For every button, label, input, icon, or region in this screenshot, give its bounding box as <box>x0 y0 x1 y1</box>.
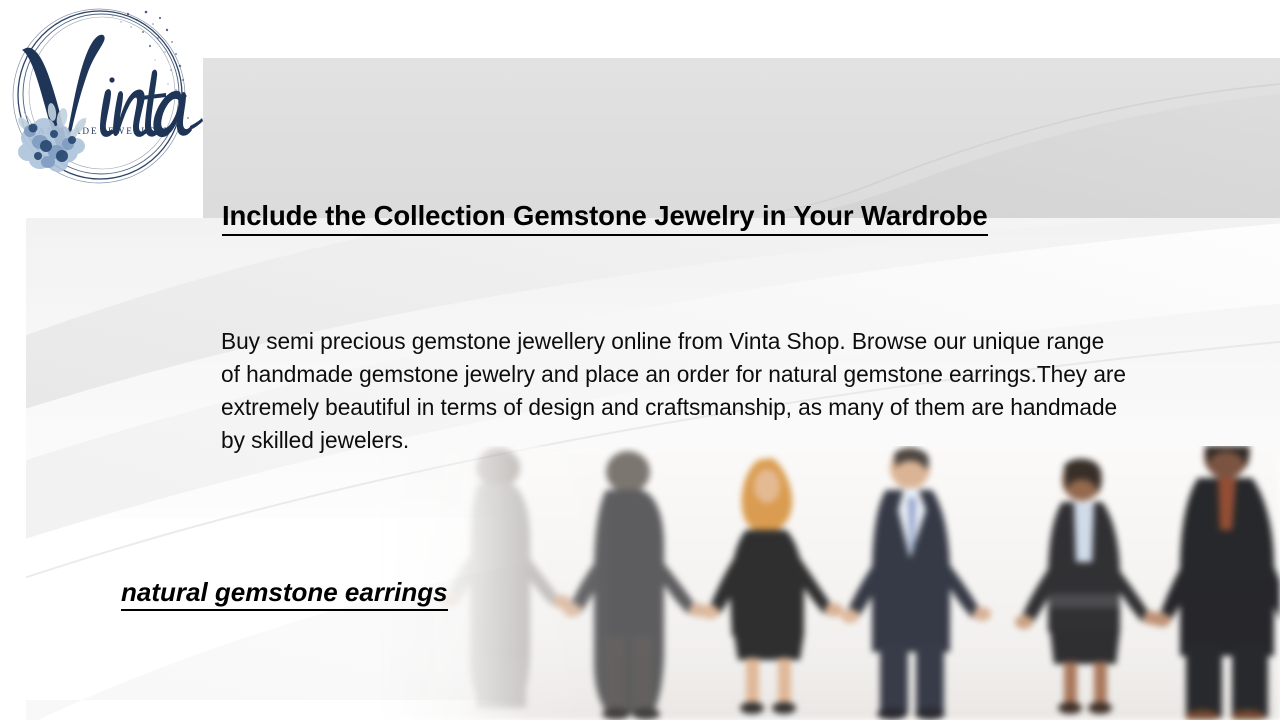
vinta-logo-icon: HANDMADE JEWELLERY <box>0 0 203 193</box>
natural-gemstone-earrings-link[interactable]: natural gemstone earrings <box>121 578 448 611</box>
background-left-gutter <box>0 218 26 720</box>
body-paragraph: Buy semi precious gemstone jewellery onl… <box>221 325 1126 457</box>
page-title: Include the Collection Gemstone Jewelry … <box>222 202 988 236</box>
background-top-swoosh <box>203 58 1280 218</box>
background-photo-business-people <box>380 446 1280 720</box>
presentation-slide: HANDMADE JEWELLERY <box>0 0 1280 720</box>
logo-container[interactable]: HANDMADE JEWELLERY <box>0 0 203 193</box>
